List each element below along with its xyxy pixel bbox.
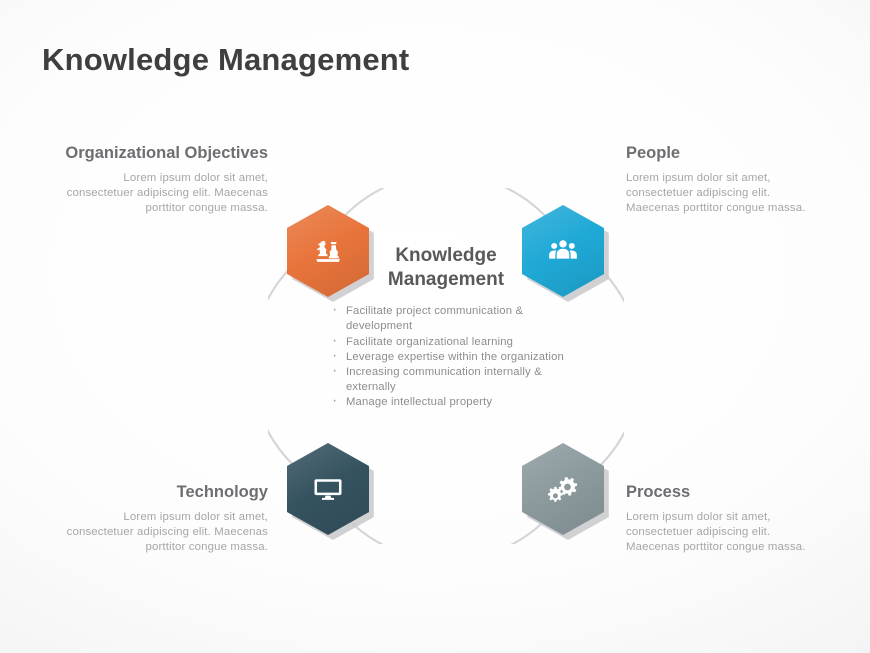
label-body-process: Lorem ipsum dolor sit amet, consectetuer…	[626, 510, 826, 556]
center-title-line1: Knowledge	[320, 244, 572, 268]
center-title-line2: Management	[320, 268, 572, 292]
label-block-people: People Lorem ipsum dolor sit amet, conse…	[626, 143, 826, 217]
slide-canvas: Knowledge Management	[0, 0, 870, 653]
label-title-objectives: Organizational Objectives	[60, 143, 268, 164]
label-title-technology: Technology	[60, 482, 268, 503]
bullet-item: Manage intellectual property	[326, 395, 572, 410]
label-body-technology: Lorem ipsum dolor sit amet, consectetuer…	[60, 510, 268, 556]
center-bullet-list: Facilitate project communication & devel…	[320, 304, 572, 410]
bullet-item: Increasing communication internally & ex…	[326, 365, 572, 395]
label-block-technology: Technology Lorem ipsum dolor sit amet, c…	[60, 482, 268, 556]
label-block-process: Process Lorem ipsum dolor sit amet, cons…	[626, 482, 826, 556]
monitor-icon	[313, 474, 343, 504]
bullet-item: Facilitate project communication & devel…	[326, 304, 572, 334]
label-title-process: Process	[626, 482, 826, 503]
gears-icon	[548, 474, 578, 504]
center-title: Knowledge Management	[320, 244, 572, 291]
label-block-objectives: Organizational Objectives Lorem ipsum do…	[60, 143, 268, 217]
center-content: Knowledge Management Facilitate project …	[320, 244, 572, 411]
label-body-objectives: Lorem ipsum dolor sit amet, consectetuer…	[60, 171, 268, 217]
hex-node-technology[interactable]	[287, 443, 369, 535]
hex-node-process[interactable]	[522, 443, 604, 535]
label-title-people: People	[626, 143, 826, 164]
bullet-item: Facilitate organizational learning	[326, 335, 572, 350]
bullet-item: Leverage expertise within the organizati…	[326, 350, 572, 365]
label-body-people: Lorem ipsum dolor sit amet, consectetuer…	[626, 171, 826, 217]
knowledge-management-cycle-diagram: Knowledge Management Facilitate project …	[0, 0, 870, 653]
